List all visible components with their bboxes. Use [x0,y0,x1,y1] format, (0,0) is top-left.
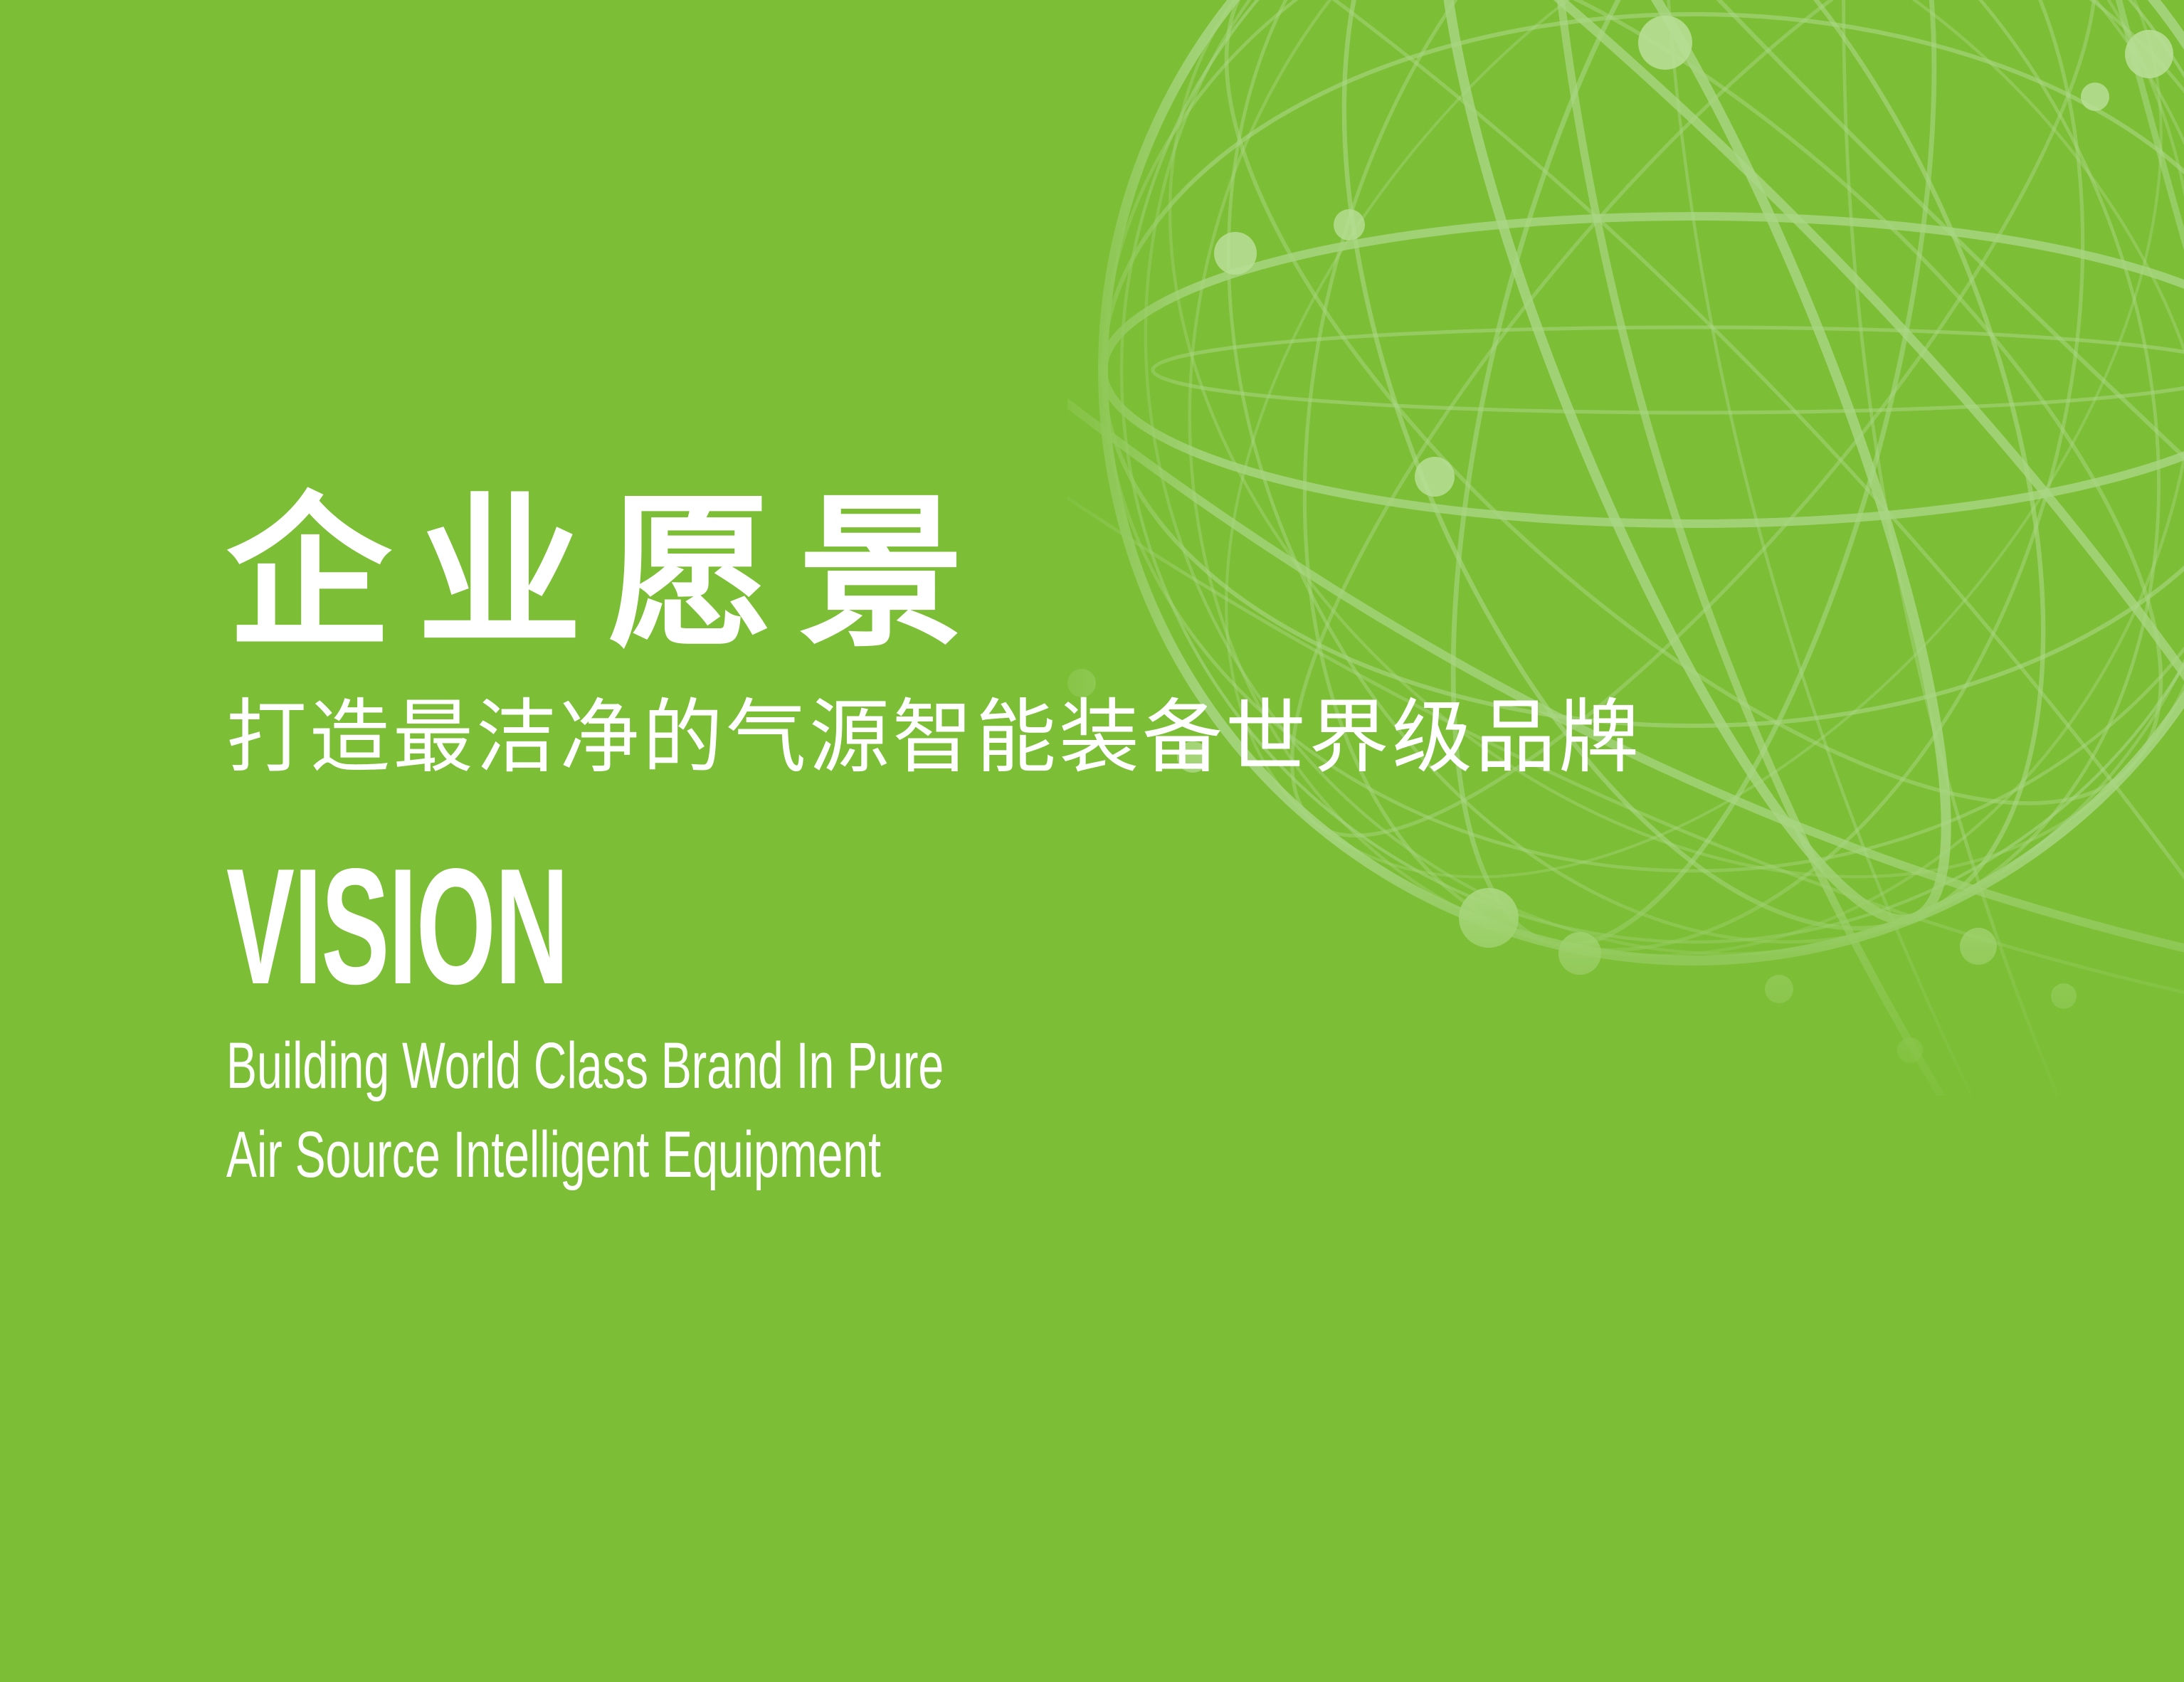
tagline-line-1: Building World Class Brand In Pure [226,1022,1472,1111]
tagline-english: Building World Class Brand In Pure Air S… [226,992,1472,1200]
page-title-chinese: 企业愿景 [226,491,2005,656]
page-subtitle-chinese: 打造最洁净的气源智能装备世界级品牌 [226,656,2005,778]
tagline-line-2: Air Source Intelligent Equipment [226,1111,1472,1200]
vision-slide: 企业愿景 打造最洁净的气源智能装备世界级品牌 VISION Building W… [0,0,2184,1682]
page-title-english: VISION [226,778,1329,992]
vision-text-block: 企业愿景 打造最洁净的气源智能装备世界级品牌 VISION Building W… [226,491,2005,1200]
